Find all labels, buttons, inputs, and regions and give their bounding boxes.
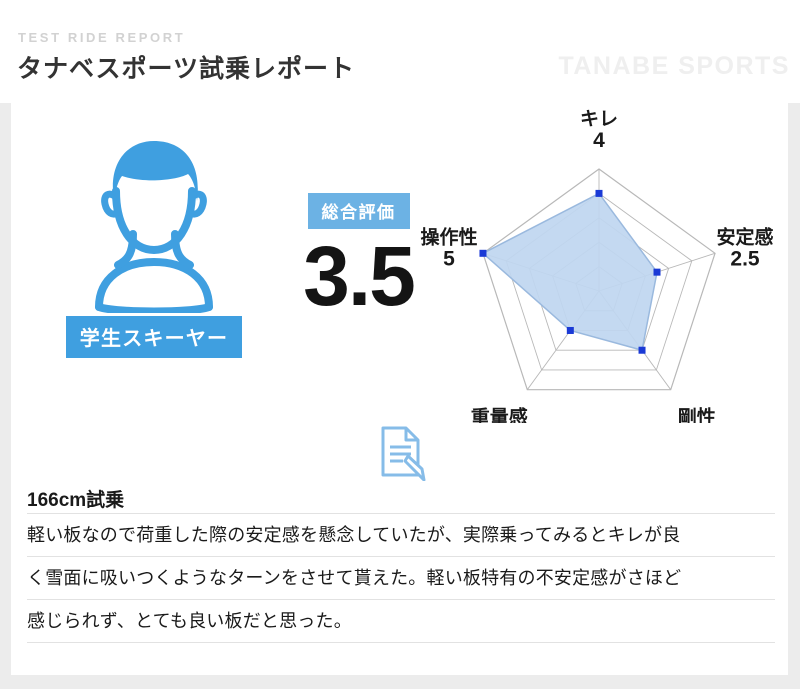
- radar-svg: キレ4安定感2.5剛性3重量感2操作性5: [419, 103, 787, 423]
- review-line: く雪面に吸いつくようなターンをさせて貰えた。軽い板特有の不安定感がさほど: [27, 556, 775, 599]
- page-header: TEST RIDE REPORT タナベスポーツ試乗レポート TANABE SP…: [0, 0, 800, 103]
- radar-data-point: [654, 269, 661, 276]
- header-kicker: TEST RIDE REPORT: [18, 30, 185, 45]
- review-body: 軽い板なので荷重した際の安定感を懸念していたが、実際乗ってみるとキレが良 く雪面…: [27, 513, 775, 643]
- document-pencil-icon: [373, 425, 427, 481]
- radar-axis-value: 4: [593, 129, 605, 152]
- radar-axis-value: 2.5: [730, 247, 760, 270]
- radar-axis-label: 操作性: [420, 225, 477, 248]
- radar-data-point: [479, 250, 486, 257]
- radar-axis-label: 剛性: [678, 406, 716, 423]
- review-icon-wrap: [11, 425, 788, 486]
- brand-watermark: TANABE SPORTS: [558, 52, 790, 81]
- rider-profile: 学生スキーヤー: [59, 131, 249, 358]
- review-heading: 166cm試乗: [27, 485, 124, 512]
- radar-data-point: [596, 190, 603, 197]
- report-card: 学生スキーヤー 総合評価 3.5 キレ4安定感2.5剛性3重量感2操作性5: [11, 103, 788, 675]
- radar-data-point: [567, 327, 574, 334]
- rider-type-badge: 学生スキーヤー: [66, 316, 242, 358]
- radar-axis-label: 重量感: [471, 406, 528, 423]
- report-summary-row: 学生スキーヤー 総合評価 3.5 キレ4安定感2.5剛性3重量感2操作性5: [11, 103, 788, 423]
- review-line: 軽い板なので荷重した際の安定感を懸念していたが、実際乗ってみるとキレが良: [27, 513, 775, 556]
- page-title: タナベスポーツ試乗レポート: [17, 49, 355, 85]
- radar-axis-label: キレ: [580, 109, 618, 130]
- person-avatar-icon: [78, 131, 230, 313]
- radar-data-point: [639, 347, 646, 354]
- rating-radar-chart: キレ4安定感2.5剛性3重量感2操作性5: [419, 103, 787, 423]
- overall-score-badge: 総合評価: [308, 193, 410, 229]
- radar-axis-label: 安定感: [716, 225, 773, 248]
- review-line: 感じられず、とても良い板だと思った。: [27, 599, 775, 643]
- radar-axis-value: 5: [443, 247, 455, 270]
